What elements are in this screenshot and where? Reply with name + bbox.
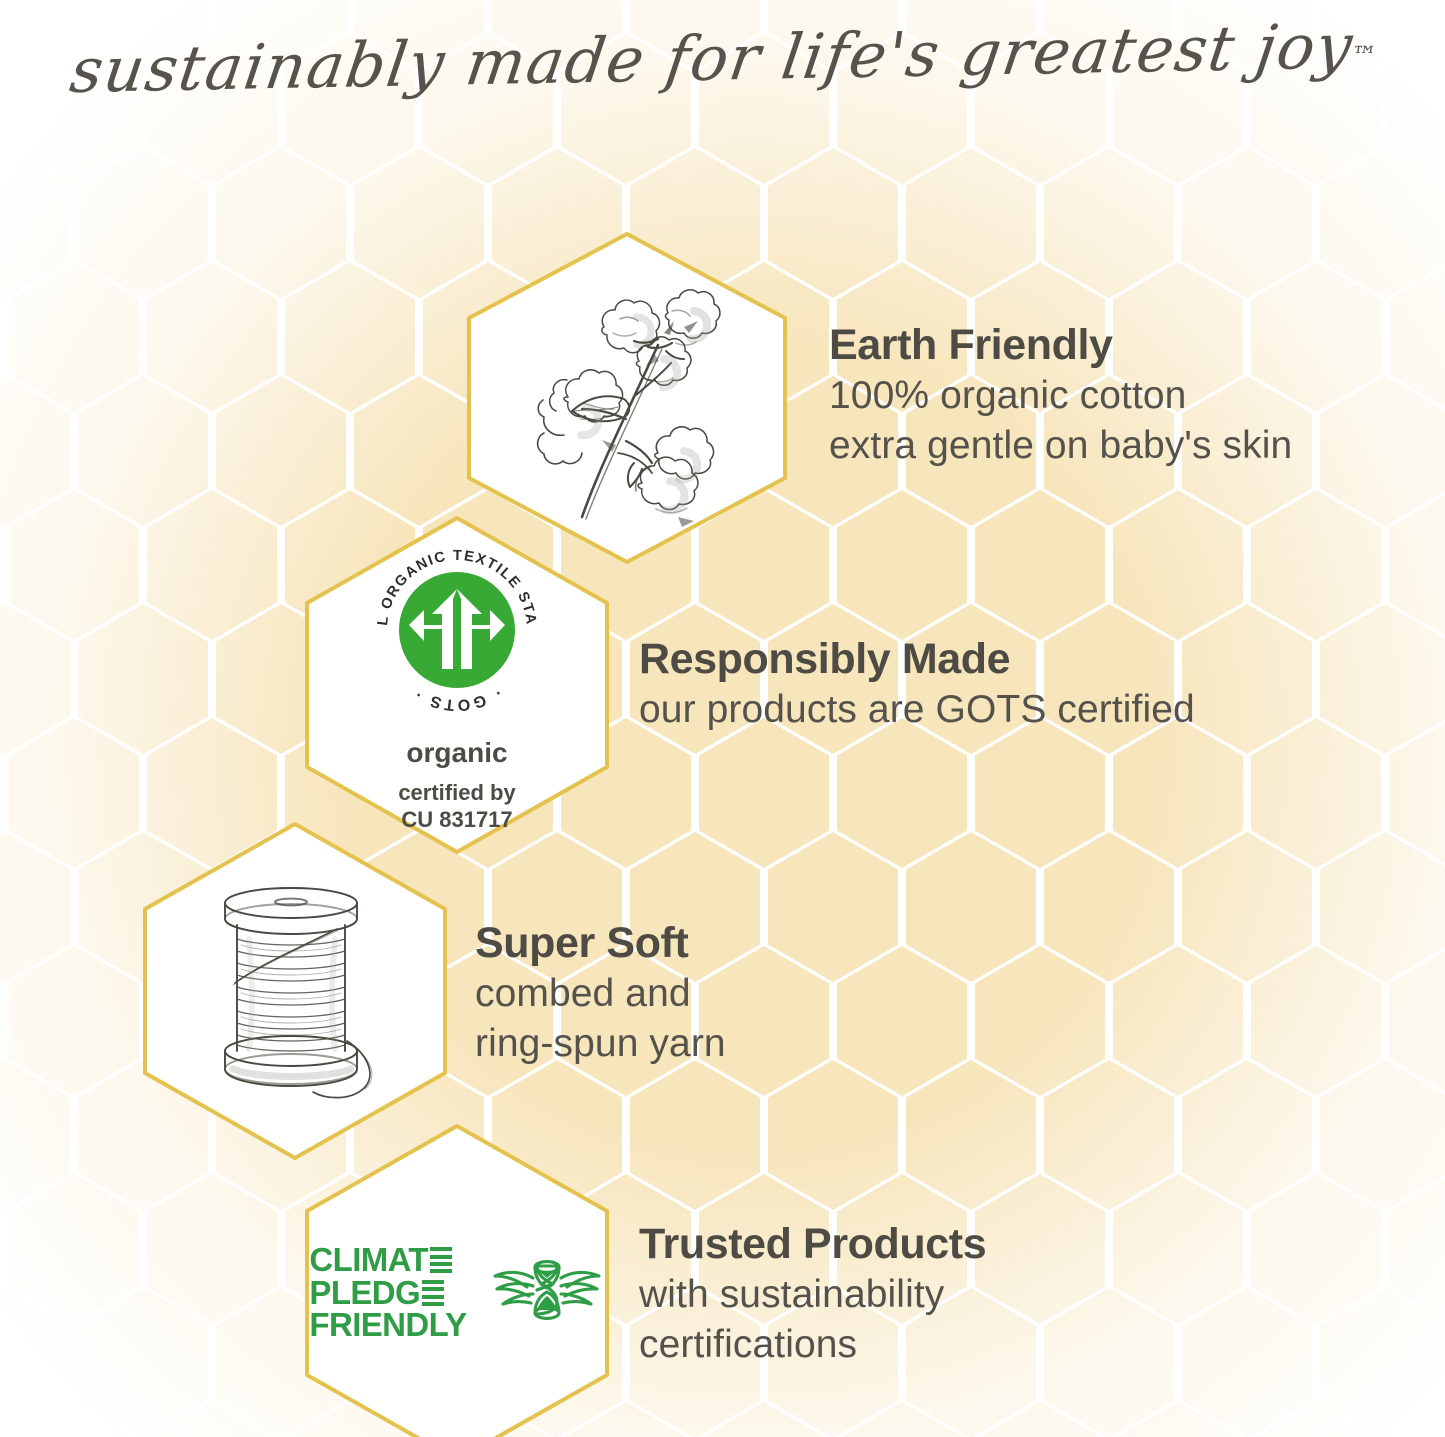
hex-card-spool	[139, 820, 451, 1162]
trademark-symbol: ™	[1349, 41, 1379, 70]
cpf-line-3: FRIENDLY	[309, 1309, 466, 1342]
feature-sub-line: our products are GOTS certified	[639, 685, 1195, 736]
svg-text:· GOTS ·: · GOTS ·	[410, 683, 504, 712]
page-headline: sustainably made for life's greatest joy…	[0, 34, 1445, 107]
feature-text-earth-friendly: Earth Friendly 100% organic cotton extra…	[829, 320, 1292, 472]
cpf-line-1: CLIMAT	[309, 1244, 428, 1277]
headline-text: sustainably made for life's greatest joy	[66, 9, 1358, 107]
feature-text-super-soft: Super Soft combed and ring-spun yarn	[475, 918, 726, 1070]
gots-seal-icon: GLOBAL ORGANIC TEXTILE STANDARD · GOTS ·	[364, 537, 550, 723]
feature-responsibly-made: GLOBAL ORGANIC TEXTILE STANDARD · GOTS ·…	[301, 514, 1195, 856]
feature-title: Trusted Products	[639, 1219, 986, 1270]
cpf-bars-icon	[422, 1280, 444, 1306]
feature-title: Super Soft	[475, 918, 726, 969]
feature-title: Responsibly Made	[639, 634, 1195, 685]
cotton-branch-icon	[508, 267, 746, 529]
gots-organic-label: organic	[406, 737, 507, 769]
hex-card-gots: GLOBAL ORGANIC TEXTILE STANDARD · GOTS ·…	[301, 514, 613, 856]
feature-sub-line: certifications	[639, 1320, 986, 1371]
feature-title: Earth Friendly	[829, 320, 1292, 371]
gots-logo: GLOBAL ORGANIC TEXTILE STANDARD · GOTS ·…	[364, 537, 550, 834]
feature-sub-line: 100% organic cotton	[829, 371, 1292, 422]
feature-sub-line: ring-spun yarn	[475, 1019, 726, 1070]
infographic-canvas: sustainably made for life's greatest joy…	[0, 0, 1445, 1437]
feature-sub-line: extra gentle on baby's skin	[829, 421, 1292, 472]
thread-spool-icon	[187, 873, 403, 1109]
winged-hourglass-icon	[489, 1256, 605, 1330]
climate-pledge-friendly-logo: CLIMAT PLEDG FRIENDLY	[309, 1244, 604, 1342]
cpf-line-2: PLEDG	[309, 1277, 420, 1310]
hex-card-climate-pledge: CLIMAT PLEDG FRIENDLY	[301, 1122, 613, 1437]
feature-trusted-products: CLIMAT PLEDG FRIENDLY	[301, 1122, 986, 1437]
feature-super-soft: Super Soft combed and ring-spun yarn	[139, 820, 726, 1162]
gots-certified-by-label: certified by	[398, 779, 515, 807]
feature-sub-line: with sustainability	[639, 1270, 986, 1321]
feature-sub-line: combed and	[475, 969, 726, 1020]
cpf-bars-icon	[430, 1247, 452, 1273]
gots-ring-text-bottom: · GOTS ·	[410, 683, 504, 712]
feature-text-responsibly-made: Responsibly Made our products are GOTS c…	[639, 634, 1195, 735]
feature-text-trusted-products: Trusted Products with sustainability cer…	[639, 1219, 986, 1371]
